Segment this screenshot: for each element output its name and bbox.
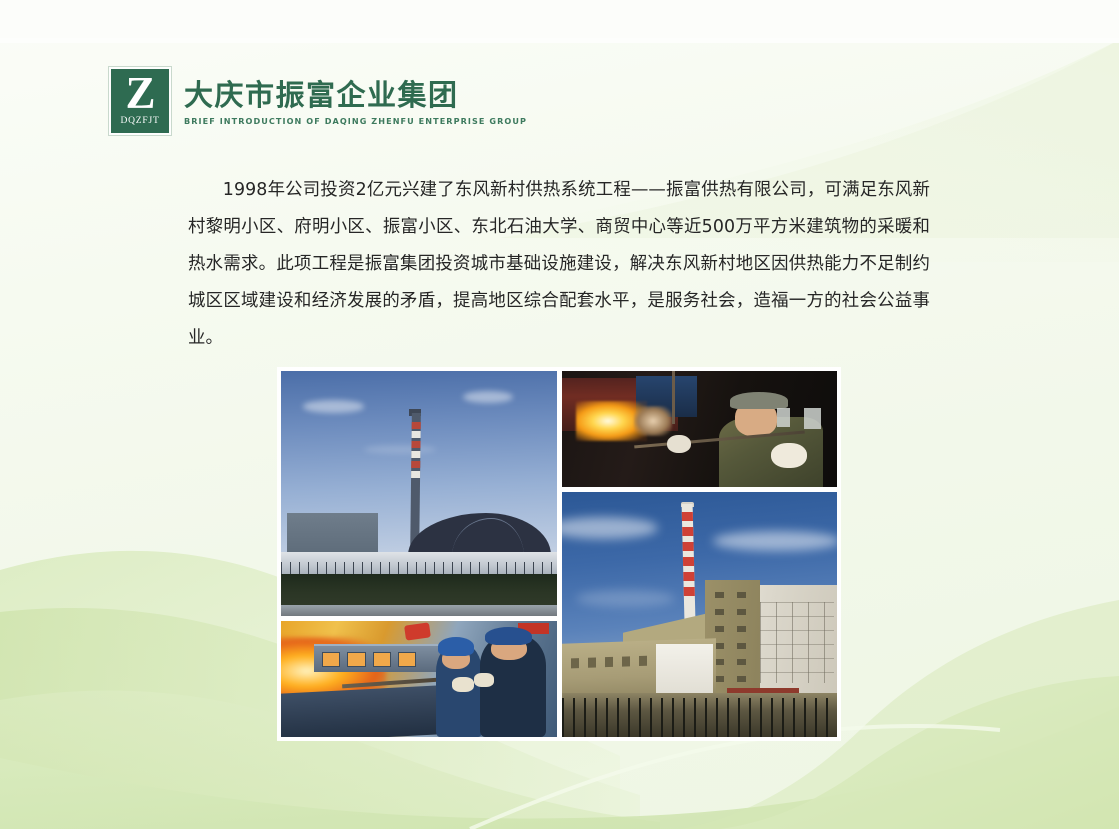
photo-heating-plant-exterior [281, 371, 557, 616]
company-logo-icon: Z DQZFJT [108, 66, 172, 136]
photo-boiler-operators [281, 621, 557, 737]
photo-power-station-building [562, 492, 837, 737]
logo-letter: Z [125, 71, 154, 115]
brand-text: 大庆市振富企业集团 BRIEF INTRODUCTION OF DAQING Z… [184, 66, 527, 126]
brand-logo-block: Z DQZFJT 大庆市振富企业集团 BRIEF INTRODUCTION OF… [108, 66, 527, 136]
slide-page: Z DQZFJT 大庆市振富企业集团 BRIEF INTRODUCTION OF… [0, 0, 1119, 829]
collage-right-column [562, 371, 837, 737]
top-divider [0, 38, 1119, 43]
photo-furnace-worker [562, 371, 837, 487]
company-name-cn: 大庆市振富企业集团 [184, 80, 527, 111]
collage-left-column [281, 371, 557, 737]
top-band [0, 0, 1119, 39]
photo-collage [277, 367, 841, 741]
company-subtitle-en: BRIEF INTRODUCTION OF DAQING ZHENFU ENTE… [184, 116, 527, 126]
logo-abbreviation: DQZFJT [120, 116, 159, 126]
introduction-paragraph: 1998年公司投资2亿元兴建了东风新村供热系统工程——振富供热有限公司，可满足东… [188, 172, 930, 357]
